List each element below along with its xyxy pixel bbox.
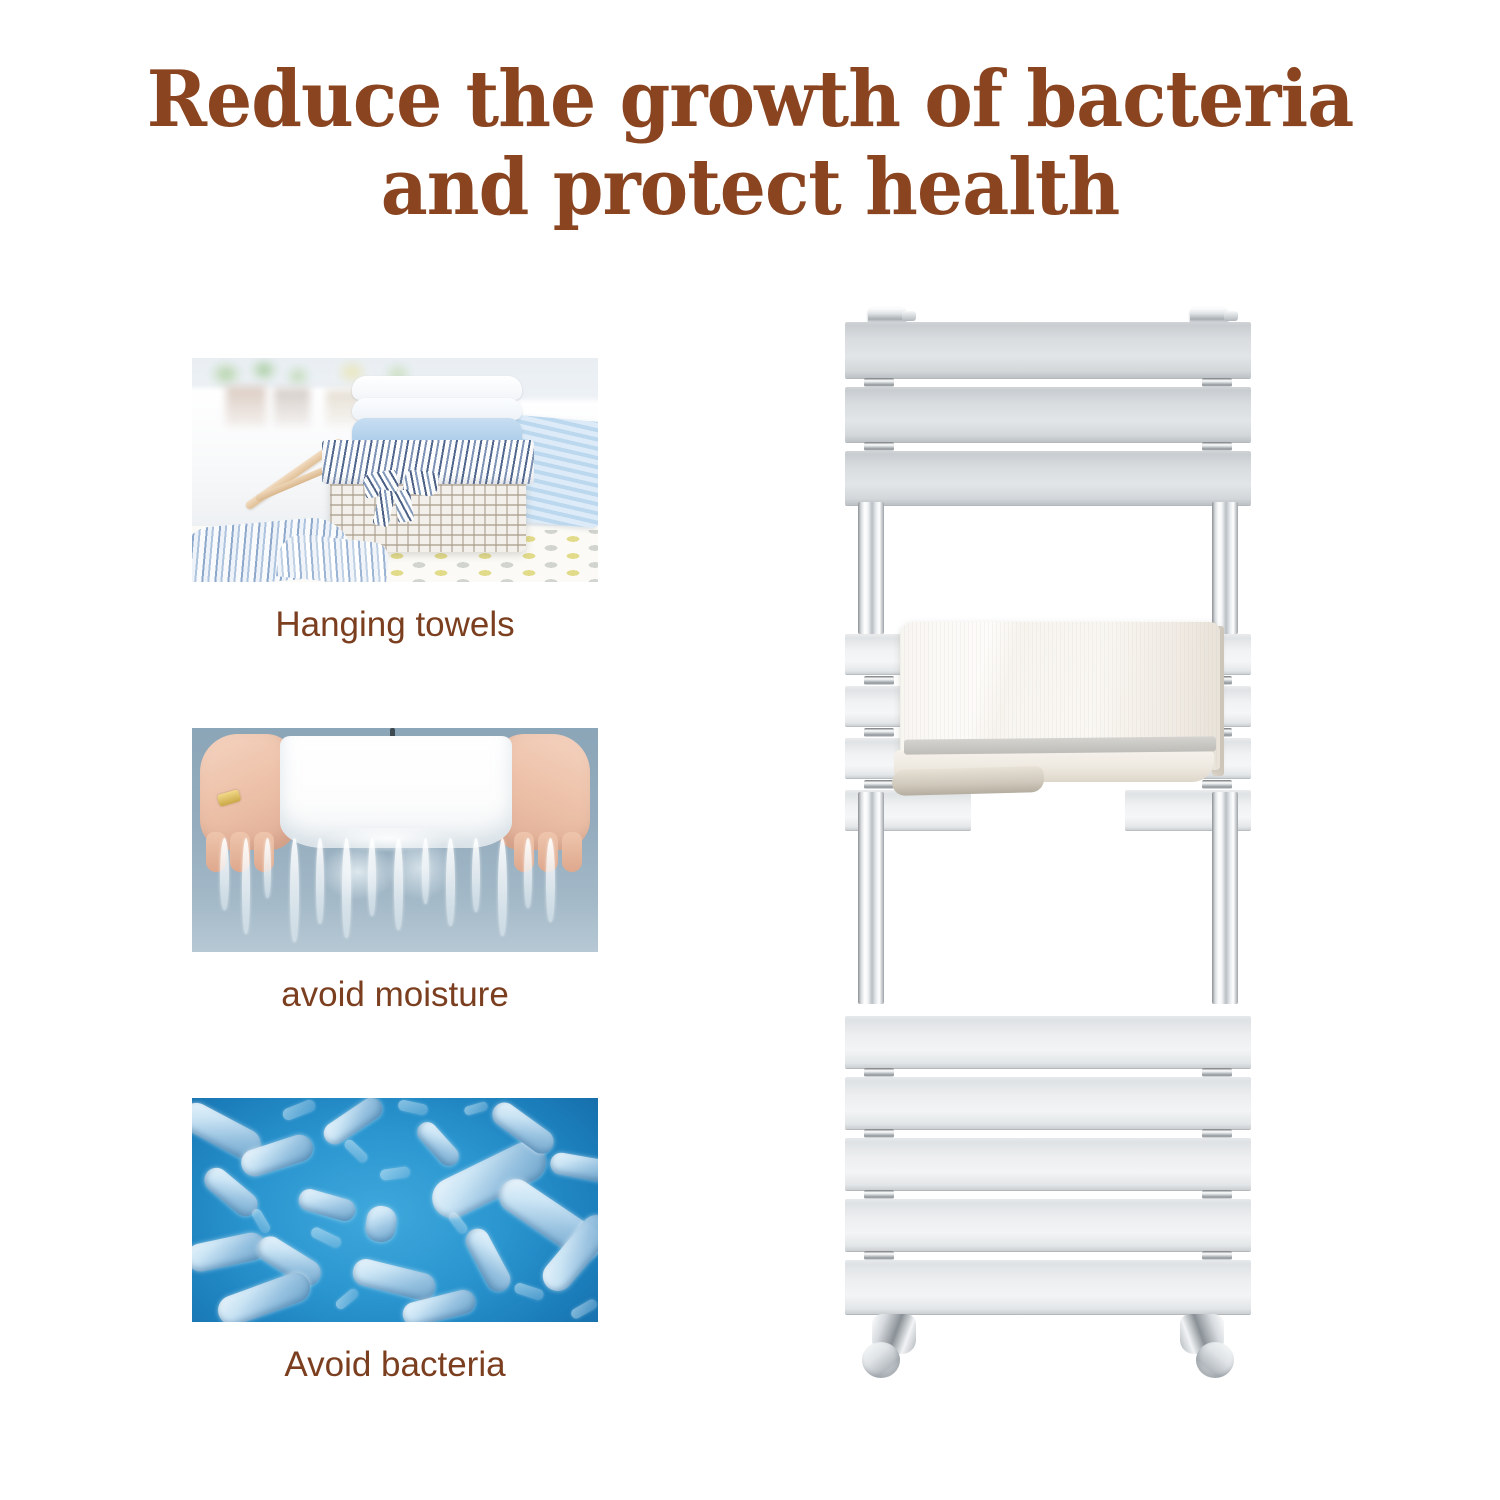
valve-cap <box>862 1342 900 1378</box>
folded-towel-stack <box>352 376 522 448</box>
rail-top-2[interactable] <box>845 387 1251 442</box>
valve-cap <box>1196 1342 1234 1378</box>
chrome-post-left-upper <box>858 502 884 634</box>
water-drips <box>216 838 574 952</box>
rail-top-3[interactable] <box>845 451 1251 505</box>
rail-joint-icon <box>864 378 894 387</box>
chrome-post-left-lower <box>858 792 884 1004</box>
rail-joint-icon <box>1202 1068 1232 1077</box>
feature-caption: Hanging towels <box>192 606 598 645</box>
rail-bottom-1[interactable] <box>845 1016 1251 1068</box>
feature-avoid-moisture: avoid moisture <box>192 728 598 1015</box>
rail-joint-icon <box>864 1129 894 1138</box>
rail-joint-icon <box>1202 1190 1232 1199</box>
feature-hanging-towels: Hanging towels <box>192 358 598 645</box>
rail-joint-icon <box>864 1251 894 1260</box>
gold-ring <box>217 789 241 807</box>
rail-joint-icon <box>864 728 894 737</box>
feature-caption: avoid moisture <box>192 976 598 1015</box>
rail-joint-icon <box>864 442 894 451</box>
laundry-basket-photo <box>192 358 598 582</box>
rail-joint-icon <box>1202 1251 1232 1260</box>
striped-bow <box>364 468 438 526</box>
rail-bottom-5[interactable] <box>845 1260 1251 1314</box>
bacteria-photo <box>192 1098 598 1322</box>
chrome-post-right-lower <box>1212 792 1238 1004</box>
rail-bottom-2[interactable] <box>845 1077 1251 1129</box>
chrome-foot-right <box>1172 1314 1234 1380</box>
page-title: Reduce the growth of bacteria and protec… <box>53 56 1448 232</box>
rail-top-1[interactable] <box>845 322 1251 378</box>
rail-joint-icon <box>864 1068 894 1077</box>
rail-joint-icon <box>864 1190 894 1199</box>
white-towel-top <box>352 376 522 400</box>
rail-joint-icon <box>1202 1129 1232 1138</box>
rail-joint-icon <box>864 676 894 685</box>
feature-avoid-bacteria: Avoid bacteria <box>192 1098 598 1385</box>
chrome-foot-left <box>862 1314 924 1380</box>
rail-joint-icon <box>1202 442 1232 451</box>
bow-tail-right <box>394 489 414 523</box>
towel-fold <box>892 766 1045 796</box>
rail-joint-icon <box>1202 378 1232 387</box>
white-towel-mid <box>352 398 522 420</box>
wringing-wet-towel-photo <box>192 728 598 952</box>
rail-bottom-4[interactable] <box>845 1199 1251 1251</box>
feature-caption: Avoid bacteria <box>192 1346 598 1385</box>
rail-joint-icon <box>864 780 894 789</box>
flat-panel-heated-towel-rail[interactable] <box>840 322 1256 1450</box>
chrome-post-right-upper <box>1212 502 1238 634</box>
rail-bottom-3[interactable] <box>845 1138 1251 1190</box>
hung-towel[interactable] <box>900 622 1220 802</box>
